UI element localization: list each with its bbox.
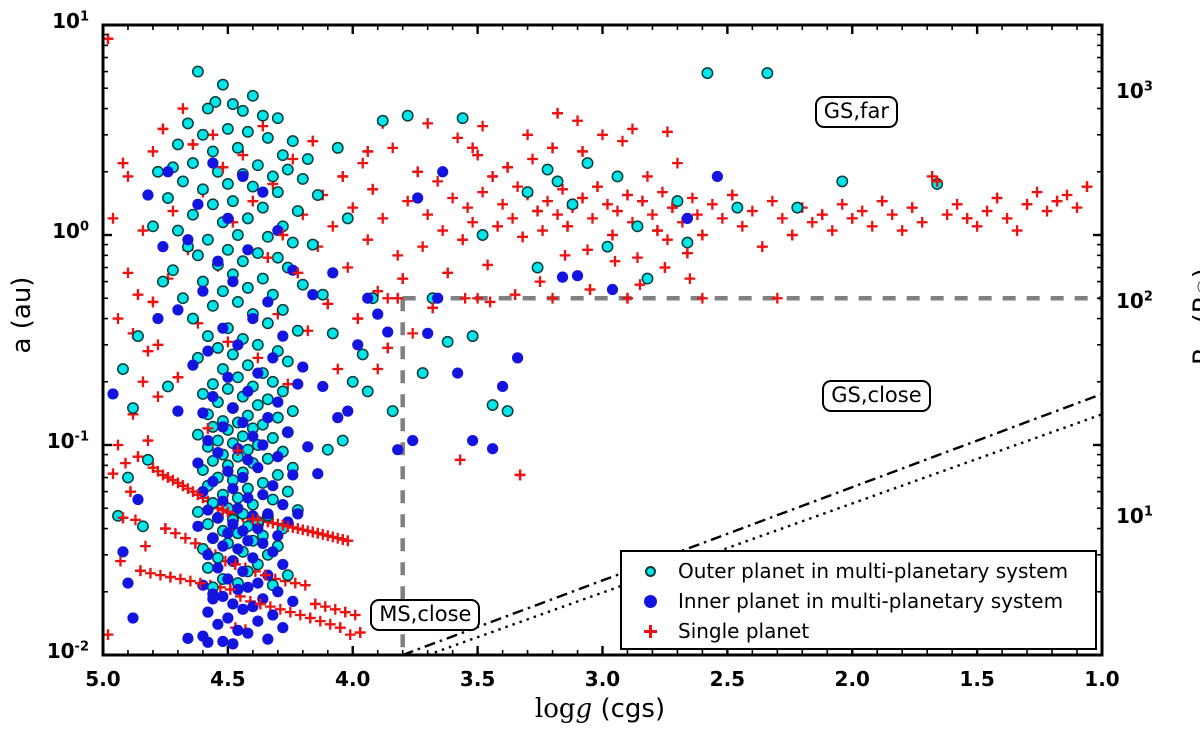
- single-planet-point: [560, 250, 571, 261]
- inner-planet-point: [117, 546, 128, 557]
- inner-planet-point: [202, 345, 213, 356]
- single-planet-point: [352, 313, 363, 324]
- single-planet-point: [452, 132, 463, 143]
- inner-planet-point: [212, 562, 223, 573]
- inner-planet-point: [292, 378, 303, 389]
- inner-planet-point: [257, 439, 268, 450]
- single-planet-point: [160, 523, 171, 534]
- inner-planet-point: [467, 435, 478, 446]
- inner-planet-point: [682, 213, 693, 224]
- outer-planet-point: [203, 234, 213, 244]
- outer-planet-point: [178, 293, 188, 303]
- outer-planet-point: [138, 521, 148, 531]
- inner-planet-point: [222, 528, 233, 539]
- single-planet-point: [482, 260, 493, 271]
- annotation-gs-close: GS,close: [822, 380, 930, 412]
- single-planet-point: [692, 209, 703, 220]
- outer-planet-point: [208, 146, 218, 156]
- single-planet-point: [442, 267, 453, 278]
- outer-planet-point: [288, 136, 298, 146]
- annotation-gs-far: GS,far: [815, 96, 898, 128]
- legend-item-outer-planet: Outer planet in multi-planetary system: [622, 556, 1095, 586]
- inner-planet-point: [202, 504, 213, 515]
- single-planet-point: [787, 230, 798, 241]
- single-planet-point: [252, 352, 263, 363]
- inner-planet-point: [242, 492, 253, 503]
- inner-planet-point: [437, 166, 448, 177]
- single-planet-point: [300, 580, 311, 591]
- single-planet-point: [180, 533, 191, 544]
- outer-planet-point: [243, 213, 253, 223]
- inner-planet-point: [382, 326, 393, 337]
- outer-planet-point: [308, 239, 318, 249]
- inner-planet-point: [422, 328, 433, 339]
- single-planet-point: [345, 629, 356, 640]
- x-tick-label: 2.0: [835, 667, 870, 691]
- inner-planet-point: [212, 256, 223, 267]
- single-planet-point: [982, 206, 993, 217]
- outer-planet-point: [223, 179, 233, 189]
- inner-planet-point: [202, 549, 213, 560]
- outer-planet-point: [268, 377, 278, 387]
- single-planet-point: [140, 541, 151, 552]
- inner-planet-point: [362, 293, 373, 304]
- inner-planet-marker-icon: [622, 595, 678, 608]
- single-planet-point: [837, 199, 848, 210]
- single-planet-point: [857, 206, 868, 217]
- single-planet-point: [340, 607, 351, 618]
- single-planet-point: [143, 435, 154, 446]
- single-planet-point: [207, 129, 218, 140]
- single-planet-point: [527, 154, 538, 165]
- inner-planet-point: [607, 284, 618, 295]
- outer-planet-point: [273, 412, 283, 422]
- outer-planet-point: [233, 297, 243, 307]
- single-planet-point: [327, 221, 338, 232]
- single-planet-point: [145, 568, 156, 579]
- inner-planet-point: [292, 508, 303, 519]
- outer-planet-point: [792, 202, 802, 212]
- single-planet-point: [477, 121, 488, 132]
- outer-planet-point: [582, 158, 592, 168]
- inner-planet-point: [222, 612, 233, 623]
- outer-planet-point: [338, 435, 348, 445]
- outer-planet-point: [233, 143, 243, 153]
- x-tick-label: 3.5: [460, 667, 495, 691]
- outer-planet-point: [388, 406, 398, 416]
- single-planet-point: [108, 468, 119, 479]
- outer-planet-point: [128, 403, 138, 413]
- x-tick-label: 5.0: [85, 667, 120, 691]
- single-planet-point: [312, 528, 323, 539]
- outer-planet-point: [732, 202, 742, 212]
- single-planet-point: [355, 627, 366, 638]
- outer-planet-point: [143, 455, 153, 465]
- outer-planet-point: [263, 318, 273, 328]
- outer-planet-point: [168, 265, 178, 275]
- inner-planet-point: [267, 480, 278, 491]
- outer-planet-point: [402, 110, 412, 120]
- outer-planet-point: [218, 79, 228, 89]
- single-planet-point: [607, 230, 618, 241]
- outer-planet-point: [213, 343, 223, 353]
- y-tick-label-left: 101: [52, 9, 89, 33]
- inner-planet-point: [217, 323, 228, 334]
- inner-planet-point: [287, 469, 298, 480]
- single-planet-point: [362, 234, 373, 245]
- outer-planet-point: [278, 150, 288, 160]
- inner-planet-point: [227, 483, 238, 494]
- outer-planet-point: [263, 133, 273, 143]
- x-tick-label: 1.0: [1084, 667, 1119, 691]
- outer-planet-point: [552, 176, 562, 186]
- single-planet-point: [322, 530, 333, 541]
- single-planet-point: [377, 213, 388, 224]
- single-planet-point: [1012, 225, 1023, 236]
- inner-planet-point: [252, 577, 263, 588]
- single-planet-point: [347, 202, 358, 213]
- outer-planet-point: [467, 331, 477, 341]
- inner-planet-point: [232, 503, 243, 514]
- inner-planet-point: [207, 391, 218, 402]
- inner-planet-point: [247, 601, 258, 612]
- inner-planet-point: [277, 331, 288, 342]
- outer-planet-point: [173, 139, 183, 149]
- single-planet-point: [123, 171, 134, 182]
- inner-planet-point: [207, 533, 218, 544]
- outer-planet-point: [258, 110, 268, 120]
- inner-planet-point: [252, 367, 263, 378]
- single-planet-point: [507, 213, 518, 224]
- inner-planet-point: [247, 313, 258, 324]
- single-planet-point: [170, 528, 181, 539]
- inner-planet-point: [267, 352, 278, 363]
- outer-planet-point: [123, 472, 133, 482]
- single-planet-point: [972, 221, 983, 232]
- inner-planet-point: [242, 628, 253, 639]
- outer-planet-point: [193, 66, 203, 76]
- outer-planet-point: [477, 230, 487, 240]
- inner-planet-point: [202, 607, 213, 618]
- single-planet-point: [662, 234, 673, 245]
- single-planet-point: [133, 451, 144, 462]
- single-planet-point: [887, 209, 898, 220]
- outer-planet-point: [602, 241, 612, 251]
- single-planet-point: [737, 221, 748, 232]
- outer-planet-point: [502, 406, 512, 416]
- outer-planet-point: [183, 118, 193, 128]
- single-planet-point: [942, 209, 953, 220]
- outer-planet-point: [333, 143, 343, 153]
- outer-planet-point: [253, 340, 263, 350]
- single-planet-point: [315, 616, 326, 627]
- single-planet-point: [302, 525, 313, 536]
- single-planet-point: [133, 289, 144, 300]
- single-planet-point: [412, 166, 423, 177]
- inner-planet-point: [217, 421, 228, 432]
- single-planet-point: [602, 199, 613, 210]
- outer-planet-point: [682, 237, 692, 247]
- y-tick-label-right: 101: [1116, 504, 1153, 528]
- single-planet-point: [437, 225, 448, 236]
- single-planet-point: [592, 181, 603, 192]
- single-planet-point: [467, 142, 478, 153]
- single-planet-point: [222, 336, 233, 347]
- inner-planet-point: [432, 293, 443, 304]
- inner-planet-point: [182, 633, 193, 644]
- inner-planet-point: [242, 535, 253, 546]
- inner-planet-point: [217, 541, 228, 552]
- single-planet-point: [577, 193, 588, 204]
- single-planet-point: [362, 146, 373, 157]
- outer-planet-point: [532, 262, 542, 272]
- outer-planet-point: [672, 196, 682, 206]
- single-planet-point: [552, 108, 563, 119]
- outer-planet-point: [198, 389, 208, 399]
- sun-glyph-icon: ☉: [1195, 278, 1200, 295]
- x-axis-log-text: log: [535, 694, 576, 724]
- inner-planet-point: [237, 472, 248, 483]
- single-planet-point: [457, 234, 468, 245]
- single-planet-point: [402, 196, 413, 207]
- outer-planet-point: [173, 225, 183, 235]
- inner-planet-point: [237, 171, 248, 182]
- single-planet-point: [622, 190, 633, 201]
- outer-planet-point: [208, 422, 218, 432]
- y-tick-label-left: 10-2: [47, 639, 89, 663]
- outer-planet-point: [203, 563, 213, 573]
- single-planet-point: [123, 267, 134, 278]
- annotation-ms-close: MS,close: [370, 599, 480, 631]
- single-planet-point: [138, 225, 149, 236]
- outer-planet-point: [188, 209, 198, 219]
- single-planet-point: [460, 293, 471, 304]
- inner-planet-point: [272, 530, 283, 541]
- outer-planet-point: [228, 196, 238, 206]
- y-tick-label-right: 102: [1116, 289, 1153, 313]
- outer-planet-point: [203, 519, 213, 529]
- single-planet-point: [135, 565, 146, 576]
- single-planet-point: [637, 196, 648, 207]
- single-planet-marker-icon: [622, 625, 678, 638]
- inner-planet-point: [152, 313, 163, 324]
- outer-planet-point: [193, 429, 203, 439]
- outer-planet-point: [258, 478, 268, 488]
- single-planet-point: [917, 217, 928, 228]
- y-tick-label-right: 103: [1116, 79, 1153, 103]
- inner-planet-point: [262, 634, 273, 645]
- single-planet-point: [330, 604, 341, 615]
- outer-planet-point: [273, 470, 283, 480]
- single-planet-point: [572, 115, 583, 126]
- inner-planet-point: [557, 272, 568, 283]
- inner-planet-point: [257, 538, 268, 549]
- outer-planet-point: [203, 103, 213, 113]
- single-planet-point: [522, 129, 533, 140]
- outer-planet-point: [273, 187, 283, 197]
- single-planet-point: [387, 142, 398, 153]
- single-planet-point: [867, 221, 878, 232]
- single-planet-point: [622, 293, 633, 304]
- inner-planet-point: [222, 213, 233, 224]
- inner-planet-point: [392, 444, 403, 455]
- outer-planet-point: [243, 127, 253, 137]
- single-planet-point: [582, 244, 593, 255]
- inner-planet-point: [127, 612, 138, 623]
- single-planet-point: [153, 339, 164, 350]
- inner-planet-point: [162, 166, 173, 177]
- outer-planet-point: [243, 283, 253, 293]
- inner-planet-point: [227, 598, 238, 609]
- inner-planet-point: [232, 625, 243, 636]
- outer-planet-point: [323, 444, 333, 454]
- inner-planet-point: [202, 435, 213, 446]
- outer-planet-point: [283, 570, 293, 580]
- inner-planet-point: [262, 412, 273, 423]
- inner-planet-point: [247, 552, 258, 563]
- single-planet-point: [397, 273, 408, 284]
- single-planet-point: [327, 532, 338, 543]
- single-planet-point: [547, 142, 558, 153]
- single-planet-point: [427, 302, 438, 313]
- x-axis-cgs-text: (cgs): [592, 694, 665, 724]
- single-planet-point: [382, 293, 393, 304]
- single-planet-point: [158, 124, 169, 135]
- single-planet-point: [168, 206, 179, 217]
- outer-planet-point: [303, 154, 313, 164]
- single-planet-point: [477, 187, 488, 198]
- inner-planet-point: [182, 234, 193, 245]
- single-planet-point: [807, 217, 818, 228]
- outer-planet-point: [223, 384, 233, 394]
- inner-planet-point: [372, 309, 383, 320]
- single-planet-point: [817, 209, 828, 220]
- inner-planet-point: [312, 468, 323, 479]
- single-planet-point: [552, 209, 563, 220]
- outer-planet-point: [283, 486, 293, 496]
- inner-planet-point: [212, 447, 223, 458]
- outer-planet-point: [642, 273, 652, 283]
- outer-planet-point: [228, 349, 238, 359]
- single-planet-point: [660, 262, 671, 273]
- single-planet-point: [325, 619, 336, 630]
- single-planet-point: [337, 171, 348, 182]
- single-planet-point: [285, 607, 296, 618]
- single-planet-point: [535, 276, 546, 287]
- single-planet-point: [247, 196, 258, 207]
- x-tick-label: 3.0: [585, 667, 620, 691]
- outer-planet-point: [457, 113, 467, 123]
- inner-planet-point: [202, 637, 213, 648]
- single-planet-point: [1022, 199, 1033, 210]
- single-planet-point: [562, 221, 573, 232]
- single-planet-point: [512, 181, 523, 192]
- inner-planet-point: [227, 276, 238, 287]
- outer-planet-point: [228, 99, 238, 109]
- inner-planet-point: [222, 466, 233, 477]
- outer-planet-point: [253, 248, 263, 258]
- outer-planet-point: [273, 252, 283, 262]
- inner-planet-point: [252, 462, 263, 473]
- inner-planet-point: [122, 577, 133, 588]
- single-planet-point: [297, 524, 308, 535]
- single-planet-point: [585, 284, 596, 295]
- single-planet-point: [115, 556, 126, 567]
- single-planet-point: [407, 328, 418, 339]
- single-planet-point: [462, 202, 473, 213]
- inner-planet-point: [272, 397, 283, 408]
- outer-planet-point: [263, 232, 273, 242]
- outer-planet-point: [328, 328, 338, 338]
- single-planet-point: [877, 196, 888, 207]
- single-planet-point: [472, 150, 483, 161]
- outer-planet-point: [348, 377, 358, 387]
- outer-planet-point: [118, 364, 128, 374]
- single-planet-point: [687, 193, 698, 204]
- inner-planet-point: [237, 566, 248, 577]
- single-planet-point: [153, 391, 164, 402]
- inner-planet-point: [282, 427, 293, 438]
- inner-planet-point: [277, 499, 288, 510]
- single-planet-point: [417, 241, 428, 252]
- outer-planet-point: [243, 360, 253, 370]
- inner-planet-point: [227, 402, 238, 413]
- single-planet-point: [1002, 213, 1013, 224]
- inner-planet-point: [297, 361, 308, 372]
- single-planet-point: [685, 273, 696, 284]
- inner-planet-point: [222, 372, 233, 383]
- outer-planet-point: [268, 494, 278, 504]
- y-axis-label-left: a (au): [7, 235, 37, 395]
- single-planet-point: [515, 470, 526, 481]
- single-planet-point: [1032, 187, 1043, 198]
- single-planet-point: [108, 213, 119, 224]
- single-planet-point: [672, 158, 683, 169]
- inner-planet-point: [212, 619, 223, 630]
- inner-planet-point: [452, 367, 463, 378]
- inner-planet-point: [407, 435, 418, 446]
- outer-planet-point: [208, 379, 218, 389]
- outer-planet-point: [378, 116, 388, 126]
- single-planet-point: [517, 231, 528, 242]
- outer-planet-point: [263, 454, 273, 464]
- legend-label-inner-planet: Inner planet in multi-planetary system: [678, 589, 1063, 613]
- inner-planet-point: [132, 494, 143, 505]
- single-planet-point: [777, 213, 788, 224]
- single-planet-point: [118, 158, 129, 169]
- single-planet-point: [175, 574, 186, 585]
- outer-planet-point: [158, 276, 168, 286]
- single-planet-point: [472, 293, 483, 304]
- inner-planet-point: [272, 451, 283, 462]
- outer-planet-point: [248, 181, 258, 191]
- outer-planet-point: [203, 331, 213, 341]
- inner-planet-point: [142, 189, 153, 200]
- single-planet-point: [382, 342, 393, 353]
- inner-planet-point: [332, 412, 343, 423]
- single-planet-point: [335, 622, 346, 633]
- outer-planet-point: [213, 435, 223, 445]
- inner-planet-point: [247, 431, 258, 442]
- x-tick-label: 4.5: [210, 667, 245, 691]
- single-planet-point: [342, 535, 353, 546]
- inner-planet-point: [267, 609, 278, 620]
- outer-planet-point: [238, 256, 248, 266]
- single-planet-point: [320, 601, 331, 612]
- outer-planet-point: [283, 164, 293, 174]
- single-planet-point: [497, 199, 508, 210]
- outer-planet-point: [567, 199, 577, 209]
